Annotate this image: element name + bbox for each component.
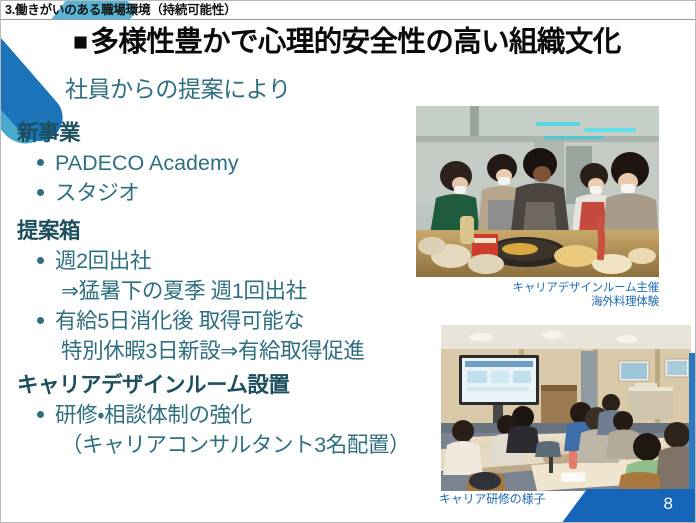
list-item-label: 有給5日消化後 取得可能な [55,306,304,336]
page-number: 8 [664,493,673,515]
slide-canvas: 3.働きがいのある職場環境（持続可能性） ■多様性豊かで心理的安全性の高い組織文… [0,0,696,523]
footer-accent-shape [561,489,696,523]
title-square-marker-icon: ■ [73,28,88,56]
list-item: 有給5日消化後 取得可能な [37,306,441,336]
list-item-continuation: （キャリアコンサルタント3名配置） [61,430,441,460]
list-item: PADECO Academy [37,148,441,178]
list-item-label: 週2回出社 [55,246,151,276]
photo-caption-cooking: キャリアデザインルーム主催 海外料理体験 [419,281,659,309]
photo-caption-training: キャリア研修の様子 [439,492,545,506]
bullet-dot-icon [37,411,44,418]
slide-header-strip: 3.働きがいのある職場環境（持続可能性） [1,1,696,20]
right-edge-accent-icon [689,353,695,493]
title-text: 多様性豊かで心理的安全性の高い組織文化 [91,26,621,58]
bullet-dot-icon [37,159,44,166]
bullet-dot-icon [37,189,44,196]
bullet-dot-icon [37,317,44,324]
list-item-continuation: 特別休暇3日新設⇒有給取得促進 [61,336,441,366]
bullet-dot-icon [37,257,44,264]
list-item-continuation: ⇒猛暑下の夏季 週1回出社 [61,276,441,306]
photo-training-seminar [441,325,691,491]
photo-caption-cooking-line1: キャリアデザインルーム主催 [419,281,659,295]
section-heading-new-business: 新事業 [17,119,441,147]
list-item-label: 研修・相談体制の強化 [55,400,252,430]
photo-training-seminar-image [441,325,691,491]
section-heading-career-design-room: キャリアデザインルーム設置 [17,371,441,399]
page-title: ■多様性豊かで心理的安全性の高い組織文化 [73,24,621,60]
content-list: 新事業 PADECO Academy スタジオ 提案箱 週2回出社 ⇒猛暑下の夏… [1,119,441,460]
photo-cooking-workshop-image [416,106,659,277]
list-item: 週2回出社 [37,246,441,276]
list-item-label: PADECO Academy [55,148,239,178]
list-item-label: スタジオ [55,178,139,208]
photo-cooking-workshop [416,106,659,277]
list-item: 研修・相談体制の強化 [37,400,441,430]
header-section-label: 3.働きがいのある職場環境（持続可能性） [5,2,236,19]
list-item: スタジオ [37,178,441,208]
photo-caption-cooking-line2: 海外料理体験 [419,295,659,309]
subtitle-text: 社員からの提案により [65,74,291,104]
section-heading-suggestion-box: 提案箱 [17,217,441,245]
